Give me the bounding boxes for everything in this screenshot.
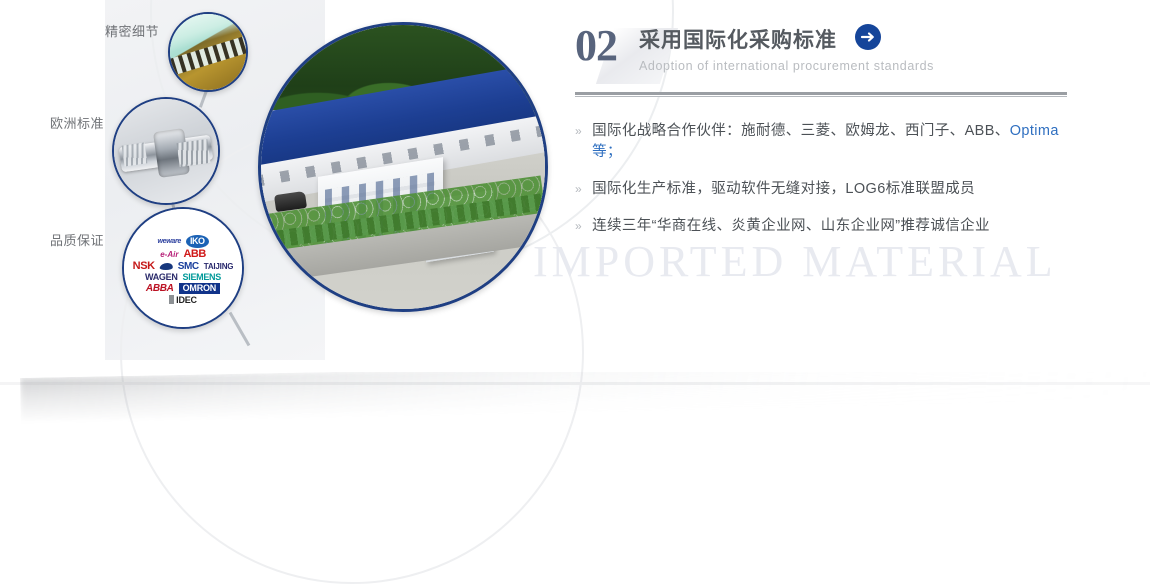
logo-omron: OMRON	[179, 283, 221, 294]
divider-line-thin	[575, 96, 1067, 97]
screw-thread-right	[177, 139, 211, 167]
bullet-text: 国际化战略合作伙伴：施耐德、三菱、欧姆龙、西门子、ABB、Optima等；	[592, 119, 1080, 161]
section-header: 02 采用国际化采购标准 Adoption of international p…	[575, 24, 1080, 82]
logo-taijing: TAIJING	[204, 263, 234, 271]
header-divider	[575, 92, 1067, 97]
page-title: 采用国际化采购标准	[639, 24, 837, 54]
bullet-text: 连续三年“华商在线、炎黄企业网、山东企业网”推荐诚信企业	[592, 214, 990, 235]
section-titles: 采用国际化采购标准 Adoption of international proc…	[639, 24, 934, 73]
screw-thread-left	[122, 142, 148, 166]
page-subtitle: Adoption of international procurement st…	[639, 59, 934, 73]
chevron-right-icon: »	[575, 182, 582, 196]
logo-weware: weware	[157, 238, 181, 245]
logo-idec: IDEC	[169, 295, 197, 305]
logo-nsk: NSK	[133, 261, 155, 272]
logo-abb: ABB	[183, 249, 205, 260]
logo-smc: SMC	[178, 262, 199, 272]
arrow-right-circle-icon[interactable]	[855, 24, 881, 50]
gear-teeth-closeup-icon	[170, 14, 246, 90]
list-item: » 国际化战略合作伙伴：施耐德、三菱、欧姆龙、西门子、ABB、Optima等；	[575, 119, 1080, 161]
list-item: » 连续三年“华商在线、炎黄企业网、山东企业网”推荐诚信企业	[575, 214, 1080, 235]
caption-european-standard: 欧洲标准	[50, 113, 104, 132]
gear-detail-bubble	[168, 12, 248, 92]
brand-logos-bubble: weware IKO e-Air ABB NSK SMC TAIJING WAG…	[122, 207, 244, 329]
ball-screw-bubble	[112, 97, 220, 205]
left-image-collage: weware IKO e-Air ABB NSK SMC TAIJING WAG…	[0, 0, 560, 380]
bottom-shadow-sweep	[0, 372, 1150, 430]
logo-abba: ABBA	[146, 284, 174, 294]
section-content: 02 采用国际化采购标准 Adoption of international p…	[575, 24, 1080, 251]
logo-iko: IKO	[186, 235, 209, 248]
caption-precision-detail: 精密细节	[105, 21, 159, 40]
smc-swoosh-icon	[159, 263, 173, 270]
bullet-text: 国际化生产标准，驱动软件无缝对接，LOG6标准联盟成员	[592, 177, 975, 198]
ball-screw-image	[114, 99, 218, 203]
logo-eair: e-Air	[160, 251, 178, 259]
section-number: 02	[575, 24, 617, 68]
feature-bullet-list: » 国际化战略合作伙伴：施耐德、三菱、欧姆龙、西门子、ABB、Optima等； …	[575, 119, 1080, 235]
bottom-curve-shadow	[20, 372, 1150, 424]
brand-logo-cloud: weware IKO e-Air ABB NSK SMC TAIJING WAG…	[124, 209, 242, 327]
factory-aerial-image	[261, 25, 545, 309]
list-item: » 国际化生产标准，驱动软件无缝对接，LOG6标准联盟成员	[575, 177, 1080, 198]
chevron-right-icon: »	[575, 219, 582, 233]
logo-siemens: SIEMENS	[183, 273, 221, 282]
logo-wagen: WAGEN	[145, 273, 178, 282]
chevron-right-icon: »	[575, 124, 582, 138]
caption-quality-assurance: 品质保证	[50, 230, 104, 249]
factory-aerial-bubble	[258, 22, 548, 312]
bullet-text-main: 国际化战略合作伙伴：施耐德、三菱、欧姆龙、西门子、ABB、	[592, 123, 1010, 139]
